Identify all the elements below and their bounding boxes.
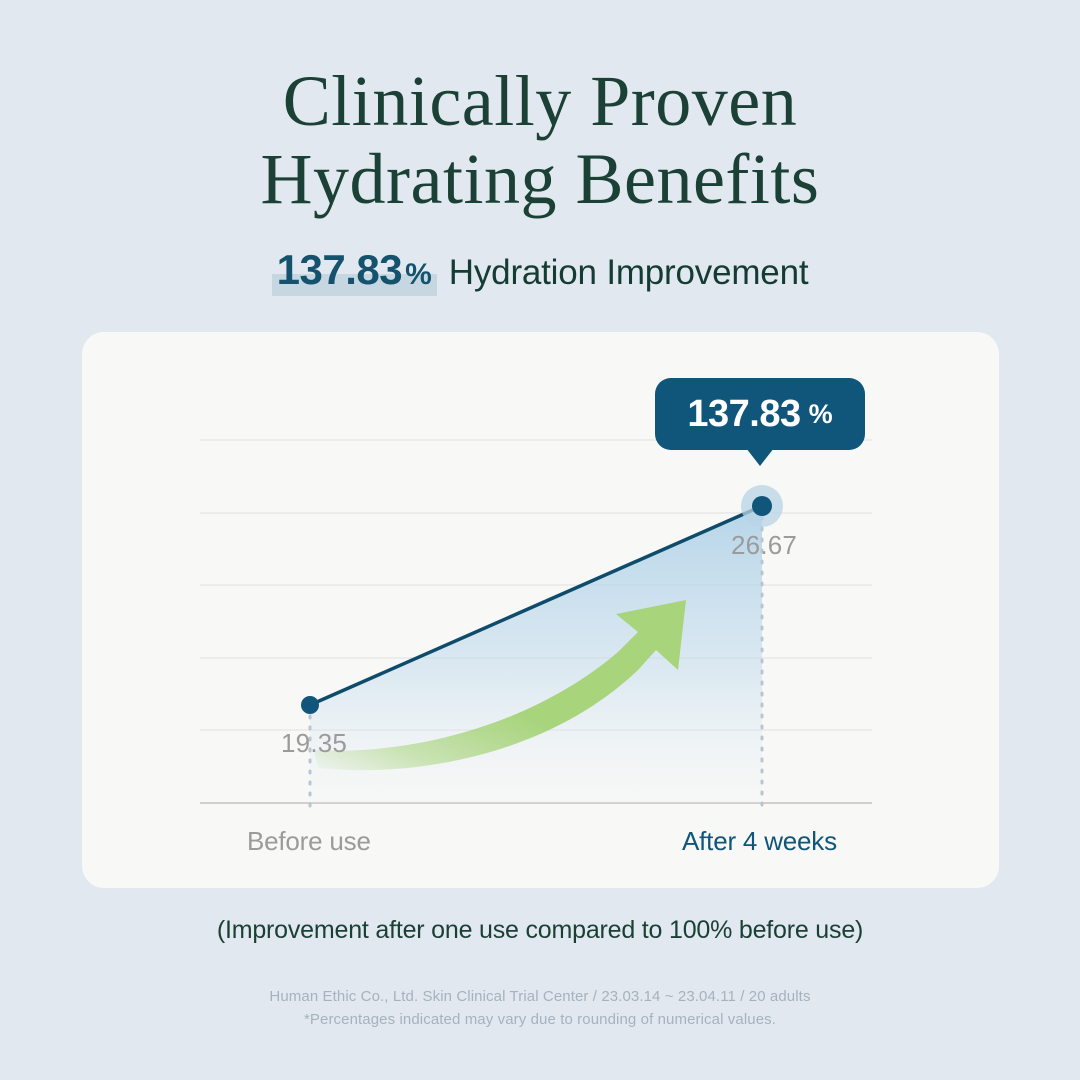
- data-point-label-after: 26.67: [731, 530, 797, 561]
- subtitle-highlight: 137.83 %: [272, 246, 437, 294]
- subtitle-label: Hydration Improvement: [449, 253, 809, 293]
- page-title: Clinically Proven Hydrating Benefits: [0, 0, 1080, 218]
- chart-data-point-before: [301, 696, 319, 714]
- footer-fineprint-line-1: Human Ethic Co., Ltd. Skin Clinical Tria…: [0, 985, 1080, 1008]
- chart-data-point-after: [741, 485, 783, 527]
- x-axis-label-before-use: Before use: [247, 826, 371, 857]
- x-axis-label-after-4-weeks: After 4 weeks: [682, 826, 837, 857]
- footer: (Improvement after one use compared to 1…: [0, 916, 1080, 1031]
- page-title-line-1: Clinically Proven: [0, 62, 1080, 140]
- subtitle: 137.83 % Hydration Improvement: [0, 246, 1080, 294]
- footer-note: (Improvement after one use compared to 1…: [0, 916, 1080, 945]
- badge-percent-sign: %: [809, 399, 833, 430]
- badge-value: 137.83: [687, 393, 800, 436]
- header: Clinically Proven Hydrating Benefits 137…: [0, 0, 1080, 294]
- footer-fineprint-line-2: *Percentages indicated may vary due to r…: [0, 1008, 1080, 1031]
- data-point-label-before: 19.35: [281, 728, 347, 759]
- subtitle-value: 137.83: [277, 246, 402, 294]
- page-title-line-2: Hydrating Benefits: [0, 140, 1080, 218]
- subtitle-percent-sign: %: [405, 258, 432, 292]
- improvement-callout-badge: 137.83 %: [655, 378, 865, 450]
- badge-pointer-icon: [746, 448, 774, 466]
